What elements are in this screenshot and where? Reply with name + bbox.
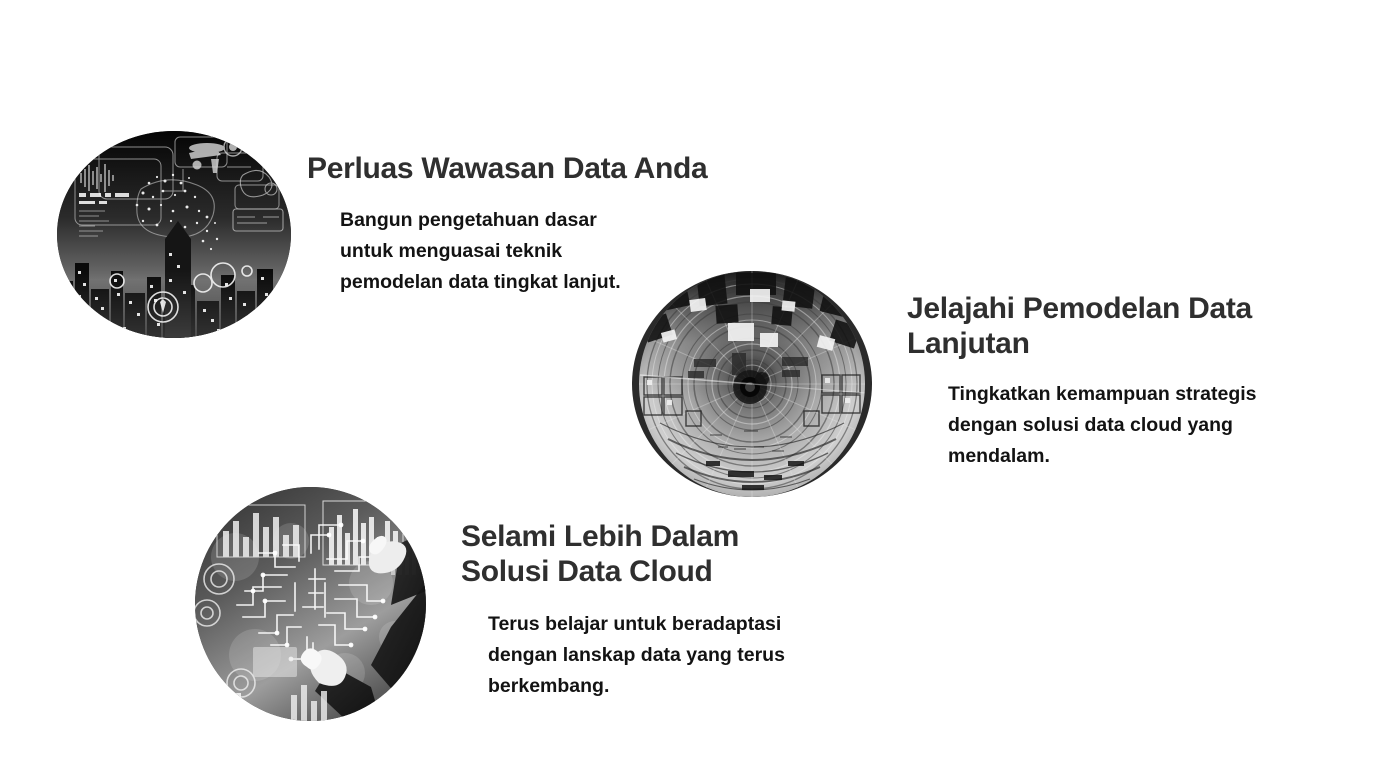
feature-2-heading: Jelajahi Pemodelan Data Lanjutan	[907, 291, 1376, 361]
slide-canvas: Perluas Wawasan Data Anda Bangun pengeta…	[0, 0, 1376, 768]
feature-3-body: Terus belajar untuk beradaptasi dengan l…	[488, 609, 931, 702]
feature-1-body: Bangun pengetahuan dasar untuk menguasai…	[340, 205, 867, 298]
feature-block-1: Perluas Wawasan Data Anda Bangun pengeta…	[307, 151, 867, 298]
radial-data-sphere-circle	[632, 271, 872, 497]
feature-block-2: Jelajahi Pemodelan Data Lanjutan Tingkat…	[907, 291, 1376, 472]
feature-1-heading: Perluas Wawasan Data Anda	[307, 151, 867, 186]
circuit-brain-analytics-circle	[195, 487, 426, 721]
feature-2-body: Tingkatkan kemampuan strategis dengan so…	[948, 379, 1376, 472]
feature-3-heading: Selami Lebih Dalam Solusi Data Cloud	[461, 519, 931, 589]
feature-block-3: Selami Lebih Dalam Solusi Data Cloud Ter…	[461, 519, 931, 702]
night-cityscape-hud-circle	[57, 131, 291, 338]
